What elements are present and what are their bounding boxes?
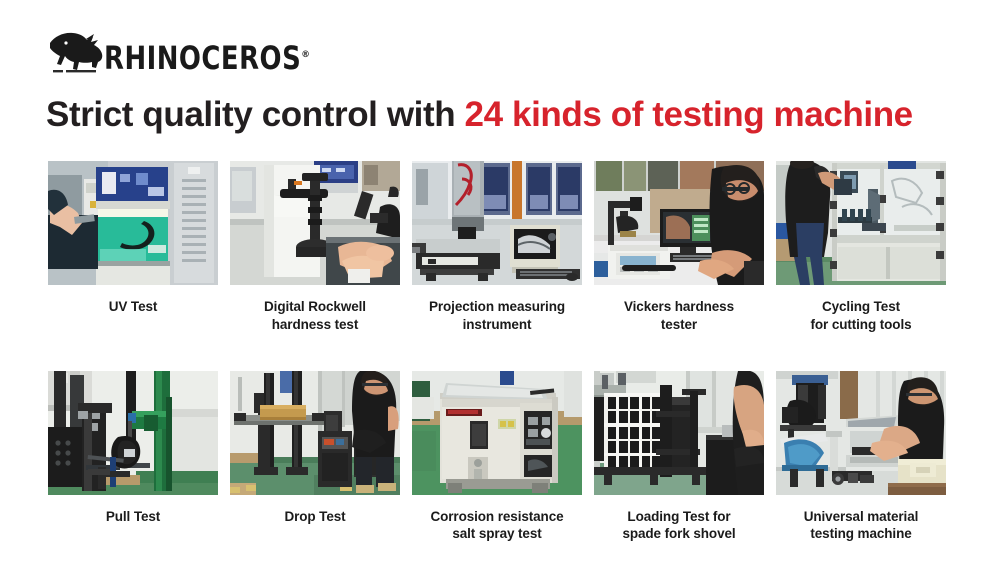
registered-trademark-icon: ® [301,51,310,60]
pull-test-rig-photo [48,371,218,495]
gallery-item-caption: Universal materialtesting machine [776,508,946,544]
gallery-item[interactable]: Loading Test forspade fork shovel [594,371,764,544]
page-title: Strict quality control with 24 kinds of … [46,96,913,135]
page-title-plain: Strict quality control with [46,95,465,134]
gallery-item-caption: Vickers hardnesstester [594,298,764,334]
testing-machine-gallery: UV Test [48,161,952,543]
gallery-item-caption: Drop Test [230,508,400,526]
digital-rockwell-hardness-tester-photo [230,161,400,285]
brand-logo-wordmark: RHINOCEROS [104,41,301,78]
gallery-item-caption: Cycling Testfor cutting tools [776,298,946,334]
cycling-test-cutting-tools-photo [776,161,946,285]
gallery-row-2: Pull Test [48,371,952,544]
gallery-item[interactable]: Cycling Testfor cutting tools [776,161,946,334]
universal-material-testing-machine-photo [776,371,946,495]
vickers-hardness-tester-photo [594,161,764,285]
rhinoceros-silhouette-icon [46,29,108,75]
gallery-item-caption: Corrosion resistancesalt spray test [412,508,582,544]
projection-measuring-instrument-photo [412,161,582,285]
gallery-item[interactable]: Vickers hardnesstester [594,161,764,334]
gallery-item[interactable]: Corrosion resistancesalt spray test [412,371,582,544]
drop-test-tower-photo [230,371,400,495]
loading-test-spade-fork-shovel-photo [594,371,764,495]
brand-logo-text: RHINOCEROS® [104,43,310,75]
uv-test-chamber-photo [48,161,218,285]
gallery-row-1: UV Test [48,161,952,334]
gallery-item[interactable]: UV Test [48,161,218,334]
gallery-item[interactable]: Drop Test [230,371,400,544]
gallery-item-caption: UV Test [48,298,218,316]
gallery-item[interactable]: Universal materialtesting machine [776,371,946,544]
gallery-item-caption: Projection measuringinstrument [412,298,582,334]
gallery-item[interactable]: Projection measuringinstrument [412,161,582,334]
gallery-item-caption: Pull Test [48,508,218,526]
brand-logo: RHINOCEROS® [46,27,319,75]
slide-root: RHINOCEROS® Strict quality control with … [0,0,1000,562]
page-title-accent: 24 kinds of testing machine [465,95,913,134]
gallery-item-caption: Loading Test forspade fork shovel [594,508,764,544]
gallery-item[interactable]: Pull Test [48,371,218,544]
gallery-item-caption: Digital Rockwellhardness test [230,298,400,334]
gallery-item[interactable]: Digital Rockwellhardness test [230,161,400,334]
salt-spray-corrosion-chamber-photo [412,371,582,495]
